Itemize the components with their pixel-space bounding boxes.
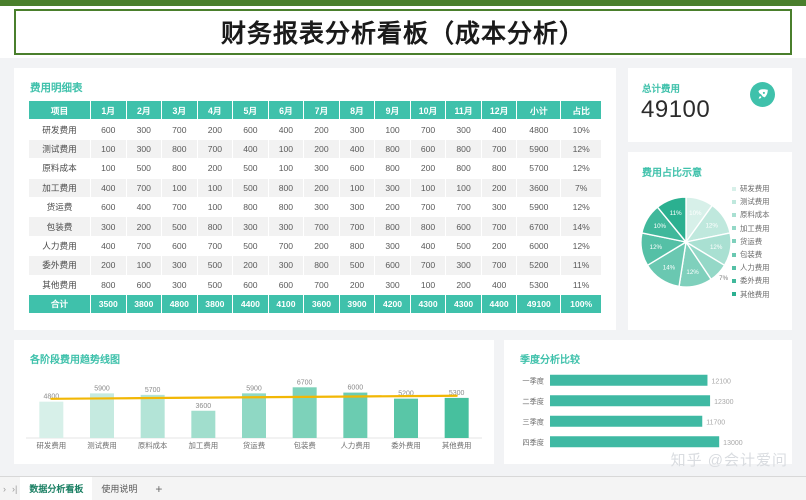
table-row: 其他费用800600300500600600700200300100200400… [29, 275, 602, 294]
row-label: 研发费用 [29, 120, 91, 139]
table-cell: 400 [481, 275, 517, 294]
table-cell: 300 [446, 256, 482, 275]
bar-value-label: 5700 [145, 387, 161, 394]
table-cell: 700 [410, 197, 446, 216]
table-cell: 700 [197, 236, 233, 255]
table-cell: 600 [268, 275, 304, 294]
bar-category-label: 研发费用 [37, 441, 67, 450]
table-cell: 600 [339, 159, 375, 178]
table-cell: 300 [268, 217, 304, 236]
table-cell: 800 [91, 275, 127, 294]
table-cell: 200 [197, 120, 233, 139]
table-cell: 12% [561, 197, 602, 216]
table-cell: 10% [561, 120, 602, 139]
bar [550, 395, 710, 406]
table-cell: 500 [446, 236, 482, 255]
table-cell: 700 [410, 120, 446, 139]
table-cell: 300 [375, 275, 411, 294]
chevron-last-icon[interactable]: ›| [9, 484, 20, 494]
table-cell: 500 [233, 178, 269, 197]
table-cell: 4800 [517, 120, 561, 139]
bar-value-label: 3600 [196, 403, 212, 410]
pie-legend: 研发费用测试费用原料成本加工费用货运费包装费人力费用委外费用其他费用 [732, 182, 790, 301]
table-cell: 500 [162, 217, 198, 236]
quarter-chart-title: 季度分析比较 [520, 351, 580, 366]
table-cell: 300 [304, 159, 340, 178]
table-row: 货运费6004007001008008003003002007007003005… [29, 197, 602, 216]
legend-item: 货运费 [732, 235, 790, 248]
table-cell: 800 [268, 178, 304, 197]
legend-swatch-icon [732, 239, 736, 243]
pie-chart-title: 费用占比示意 [642, 164, 702, 179]
table-cell: 4100 [268, 294, 304, 313]
cost-table-col-header: 7月 [304, 101, 340, 120]
table-cell: 100 [162, 178, 198, 197]
table-cell: 200 [304, 178, 340, 197]
sheet-tab[interactable]: 数据分析看板 [20, 477, 92, 500]
table-cell: 200 [446, 275, 482, 294]
table-cell: 100 [268, 159, 304, 178]
row-label: 其他费用 [29, 275, 91, 294]
table-total-row: 合计35003800480038004400410036003900420043… [29, 294, 602, 313]
table-cell: 300 [375, 236, 411, 255]
table-cell: 300 [126, 139, 162, 158]
table-cell: 5200 [517, 256, 561, 275]
pie-slice-label: 12% [650, 244, 663, 251]
legend-item: 人力费用 [732, 261, 790, 274]
table-cell: 12% [561, 236, 602, 255]
dashboard-root: 财务报表分析看板（成本分析） 费用明细表 项目1月2月3月4月5月6月7月8月9… [0, 0, 806, 500]
table-cell: 3800 [197, 294, 233, 313]
bar [191, 411, 215, 438]
table-cell: 400 [91, 236, 127, 255]
table-cell: 600 [446, 217, 482, 236]
table-cell: 700 [410, 256, 446, 275]
table-cell: 200 [304, 120, 340, 139]
cost-table-col-header: 8月 [339, 101, 375, 120]
table-cell: 200 [410, 159, 446, 178]
row-label: 委外费用 [29, 256, 91, 275]
table-cell: 49100 [517, 294, 561, 313]
table-cell: 700 [304, 275, 340, 294]
quarter-chart: 一季度12100二季度12300三季度11700四季度13000 [514, 370, 782, 452]
table-cell: 400 [91, 178, 127, 197]
add-sheet-button[interactable]: + [146, 482, 171, 496]
row-label: 货运费 [29, 197, 91, 216]
table-cell: 200 [304, 236, 340, 255]
table-cell: 200 [233, 256, 269, 275]
cost-table-col-header: 2月 [126, 101, 162, 120]
table-cell: 800 [268, 197, 304, 216]
table-cell: 300 [339, 197, 375, 216]
legend-item: 原料成本 [732, 208, 790, 221]
legend-item: 包装费 [732, 248, 790, 261]
legend-label: 加工费用 [740, 223, 770, 234]
bar [550, 375, 707, 386]
table-cell: 4400 [481, 294, 517, 313]
table-cell: 300 [268, 256, 304, 275]
table-cell: 600 [126, 275, 162, 294]
table-cell: 3600 [517, 178, 561, 197]
table-cell: 200 [91, 256, 127, 275]
bar-category-label: 其他费用 [442, 441, 472, 450]
bar [550, 416, 702, 427]
row-label: 人力费用 [29, 236, 91, 255]
table-row: 人力费用400700600700500700200800300400500200… [29, 236, 602, 255]
bar-value-label: 6700 [297, 379, 313, 386]
bar [394, 399, 418, 438]
table-row: 研发费用600300700200600400200300100700300400… [29, 120, 602, 139]
bar-category-label: 四季度 [522, 438, 544, 447]
legend-label: 研发费用 [740, 183, 770, 194]
table-cell: 500 [126, 159, 162, 178]
table-cell: 700 [304, 217, 340, 236]
table-cell: 4200 [375, 294, 411, 313]
legend-swatch-icon [732, 279, 736, 283]
bar [445, 398, 469, 438]
table-cell: 800 [446, 139, 482, 158]
legend-label: 原料成本 [740, 209, 770, 220]
table-cell: 300 [233, 217, 269, 236]
sheet-tab-bar: › ›| 数据分析看板使用说明 + [0, 476, 806, 500]
total-cost-label: 总计费用 [642, 81, 680, 95]
top-accent-bar [0, 0, 806, 6]
pie-chart: 10%12%12%7%12%14%12%10%11% [638, 194, 734, 290]
table-cell: 400 [126, 197, 162, 216]
pie-slice-label: 11% [670, 210, 682, 217]
table-cell: 7% [561, 178, 602, 197]
table-cell: 700 [197, 139, 233, 158]
total-cost-card: 总计费用 49100 [628, 68, 792, 142]
legend-item: 测试费用 [732, 195, 790, 208]
table-cell: 12% [561, 139, 602, 158]
table-cell: 100 [268, 139, 304, 158]
table-cell: 600 [410, 139, 446, 158]
bar-category-label: 三季度 [522, 417, 544, 426]
table-cell: 3900 [339, 294, 375, 313]
legend-label: 委外费用 [740, 275, 770, 286]
table-cell: 100 [126, 256, 162, 275]
table-cell: 100 [339, 178, 375, 197]
bar-value-label: 12300 [714, 399, 734, 406]
bar-value-label: 11700 [706, 419, 725, 426]
table-cell: 700 [126, 178, 162, 197]
table-cell: 3800 [126, 294, 162, 313]
table-cell: 300 [91, 217, 127, 236]
bar-value-label: 12100 [711, 378, 731, 385]
table-cell: 100 [410, 275, 446, 294]
table-cell: 12% [561, 159, 602, 178]
row-label: 包装费 [29, 217, 91, 236]
legend-swatch-icon [732, 213, 736, 217]
bar-category-label: 货运费 [243, 441, 265, 450]
bar-value-label: 6000 [348, 385, 364, 392]
cost-table-header-row: 项目1月2月3月4月5月6月7月8月9月10月11月12月小计占比 [29, 101, 602, 120]
total-cost-value: 49100 [641, 96, 710, 124]
cost-table-col-header: 4月 [197, 101, 233, 120]
trend-chart-title: 各阶段费用趋势线图 [30, 351, 120, 366]
table-cell: 700 [481, 217, 517, 236]
table-cell: 800 [481, 159, 517, 178]
table-cell: 500 [233, 159, 269, 178]
table-cell: 400 [233, 139, 269, 158]
trend-chart: 4800研发费用5900测试费用5700原料成本3600加工费用5900货运费6… [26, 370, 482, 452]
table-cell: 500 [197, 275, 233, 294]
pie-slice-label: 10% [689, 210, 702, 217]
table-cell: 4300 [446, 294, 482, 313]
table-cell: 100 [375, 120, 411, 139]
sheet-tabs: 数据分析看板使用说明 [20, 477, 146, 500]
legend-item: 加工费用 [732, 222, 790, 235]
legend-label: 其他费用 [740, 289, 770, 300]
cost-table-title: 费用明细表 [30, 80, 83, 95]
bar-category-label: 加工费用 [189, 441, 219, 450]
bar-value-label: 5900 [246, 385, 262, 392]
table-cell: 100 [91, 159, 127, 178]
legend-label: 测试费用 [740, 196, 770, 207]
cost-table-col-header: 10月 [410, 101, 446, 120]
expense-share-panel: 费用占比示意 10%12%12%7%12%14%12%10%11% 研发费用测试… [628, 152, 792, 330]
table-cell: 14% [561, 217, 602, 236]
table-cell: 800 [233, 197, 269, 216]
table-cell: 200 [304, 139, 340, 158]
legend-label: 包装费 [740, 249, 762, 260]
table-cell: 100% [561, 294, 602, 313]
table-row: 加工费用400700100100500800200100300100100200… [29, 178, 602, 197]
table-cell: 300 [304, 197, 340, 216]
table-cell: 200 [375, 197, 411, 216]
table-cell: 500 [339, 256, 375, 275]
watermark: 知乎 @会计爱问 [600, 446, 800, 472]
row-label: 原料成本 [29, 159, 91, 178]
table-cell: 300 [162, 275, 198, 294]
table-cell: 300 [481, 197, 517, 216]
table-cell: 800 [304, 256, 340, 275]
cost-table-col-header: 6月 [268, 101, 304, 120]
table-cell: 700 [162, 120, 198, 139]
table-cell: 6700 [517, 217, 561, 236]
bar-category-label: 二季度 [522, 397, 544, 406]
pie-slice-label: 7% [719, 275, 728, 282]
bar [242, 393, 266, 438]
pie-slice-label: 12% [686, 269, 699, 276]
table-row: 委外费用200100300500200300800500600700300700… [29, 256, 602, 275]
cost-table-col-header: 项目 [29, 101, 91, 120]
table-cell: 500 [197, 256, 233, 275]
cost-table-col-header: 9月 [375, 101, 411, 120]
table-cell: 6000 [517, 236, 561, 255]
table-cell: 合计 [29, 294, 91, 313]
table-cell: 600 [162, 236, 198, 255]
cost-table-col-header: 占比 [561, 101, 602, 120]
table-cell: 600 [91, 197, 127, 216]
table-cell: 3600 [304, 294, 340, 313]
dashboard-title-box: 财务报表分析看板（成本分析） [14, 9, 792, 55]
table-cell: 3500 [91, 294, 127, 313]
table-cell: 200 [126, 217, 162, 236]
table-row: 测试费用100300800700400100200400800600800700… [29, 139, 602, 158]
legend-swatch-icon [732, 253, 736, 257]
table-cell: 100 [197, 178, 233, 197]
chevron-right-icon[interactable]: › [0, 484, 9, 494]
bar [141, 395, 165, 438]
table-cell: 400 [268, 120, 304, 139]
table-cell: 600 [375, 256, 411, 275]
legend-item: 其他费用 [732, 288, 790, 301]
bar [293, 387, 317, 438]
table-cell: 5300 [517, 275, 561, 294]
table-cell: 600 [91, 120, 127, 139]
page-title: 财务报表分析看板（成本分析） [221, 14, 585, 50]
cost-table-body: 研发费用600300700200600400200300100700300400… [29, 120, 602, 314]
table-cell: 4400 [233, 294, 269, 313]
cost-table-col-header: 11月 [446, 101, 482, 120]
table-cell: 5900 [517, 139, 561, 158]
table-cell: 700 [162, 197, 198, 216]
pie-slice-label: 12% [710, 244, 723, 251]
bar-category-label: 人力费用 [341, 441, 371, 450]
cost-table-head: 项目1月2月3月4月5月6月7月8月9月10月11月12月小计占比 [29, 101, 602, 120]
bar-category-label: 测试费用 [87, 441, 117, 450]
legend-swatch-icon [732, 226, 736, 230]
table-cell: 700 [268, 236, 304, 255]
cost-table-col-header: 5月 [233, 101, 269, 120]
table-cell: 4300 [410, 294, 446, 313]
table-cell: 800 [410, 217, 446, 236]
sheet-tab[interactable]: 使用说明 [92, 477, 146, 500]
table-cell: 700 [446, 197, 482, 216]
table-cell: 100 [446, 178, 482, 197]
table-cell: 200 [339, 275, 375, 294]
bar [90, 393, 114, 438]
table-cell: 300 [375, 178, 411, 197]
table-cell: 200 [197, 159, 233, 178]
table-cell: 400 [481, 120, 517, 139]
table-cell: 400 [410, 236, 446, 255]
table-cell: 700 [339, 217, 375, 236]
table-cell: 800 [375, 139, 411, 158]
pie-slice-label: 12% [705, 222, 718, 229]
cost-table-col-header: 3月 [162, 101, 198, 120]
cost-table-col-header: 1月 [91, 101, 127, 120]
table-cell: 4800 [162, 294, 198, 313]
cost-table-col-header: 小计 [517, 101, 561, 120]
pie-slice-label: 10% [654, 223, 667, 230]
bar [39, 402, 63, 438]
bar-value-label: 5900 [94, 385, 110, 392]
table-cell: 300 [162, 256, 198, 275]
table-row: 包装费3002005008003003007007008008006007006… [29, 217, 602, 236]
legend-swatch-icon [732, 187, 736, 191]
table-cell: 700 [481, 256, 517, 275]
cost-detail-panel: 费用明细表 项目1月2月3月4月5月6月7月8月9月10月11月12月小计占比 … [14, 68, 616, 330]
cost-detail-table: 项目1月2月3月4月5月6月7月8月9月10月11月12月小计占比 研发费用60… [28, 100, 602, 314]
table-cell: 100 [91, 139, 127, 158]
cost-table-col-header: 12月 [481, 101, 517, 120]
table-cell: 800 [197, 217, 233, 236]
table-cell: 300 [339, 120, 375, 139]
rocket-icon [750, 82, 775, 107]
stage-trend-panel: 各阶段费用趋势线图 4800研发费用5900测试费用5700原料成本3600加工… [14, 340, 494, 464]
bar-category-label: 委外费用 [391, 441, 421, 450]
legend-swatch-icon [732, 200, 736, 204]
table-cell: 800 [162, 139, 198, 158]
row-label: 加工费用 [29, 178, 91, 197]
legend-item: 委外费用 [732, 274, 790, 287]
bar-category-label: 包装费 [294, 441, 316, 450]
bar-category-label: 原料成本 [138, 441, 168, 450]
table-cell: 100 [197, 197, 233, 216]
legend-label: 人力费用 [740, 262, 770, 273]
table-cell: 500 [233, 236, 269, 255]
table-cell: 11% [561, 275, 602, 294]
table-cell: 800 [375, 217, 411, 236]
table-cell: 600 [233, 120, 269, 139]
table-cell: 11% [561, 256, 602, 275]
row-label: 测试费用 [29, 139, 91, 158]
table-cell: 300 [446, 120, 482, 139]
table-cell: 200 [481, 236, 517, 255]
table-cell: 800 [446, 159, 482, 178]
table-row: 原料成本100500800200500100300600800200800800… [29, 159, 602, 178]
legend-swatch-icon [732, 292, 736, 296]
table-cell: 300 [126, 120, 162, 139]
legend-item: 研发费用 [732, 182, 790, 195]
bar-category-label: 一季度 [522, 376, 544, 385]
table-cell: 100 [410, 178, 446, 197]
table-cell: 800 [339, 236, 375, 255]
table-cell: 700 [481, 139, 517, 158]
table-cell: 400 [339, 139, 375, 158]
table-cell: 200 [481, 178, 517, 197]
table-cell: 800 [162, 159, 198, 178]
table-cell: 5900 [517, 197, 561, 216]
table-cell: 800 [375, 159, 411, 178]
table-cell: 600 [233, 275, 269, 294]
table-cell: 700 [126, 236, 162, 255]
legend-swatch-icon [732, 266, 736, 270]
bar [343, 393, 367, 438]
legend-label: 货运费 [740, 236, 762, 247]
table-cell: 5700 [517, 159, 561, 178]
pie-slice-label: 14% [663, 264, 676, 271]
